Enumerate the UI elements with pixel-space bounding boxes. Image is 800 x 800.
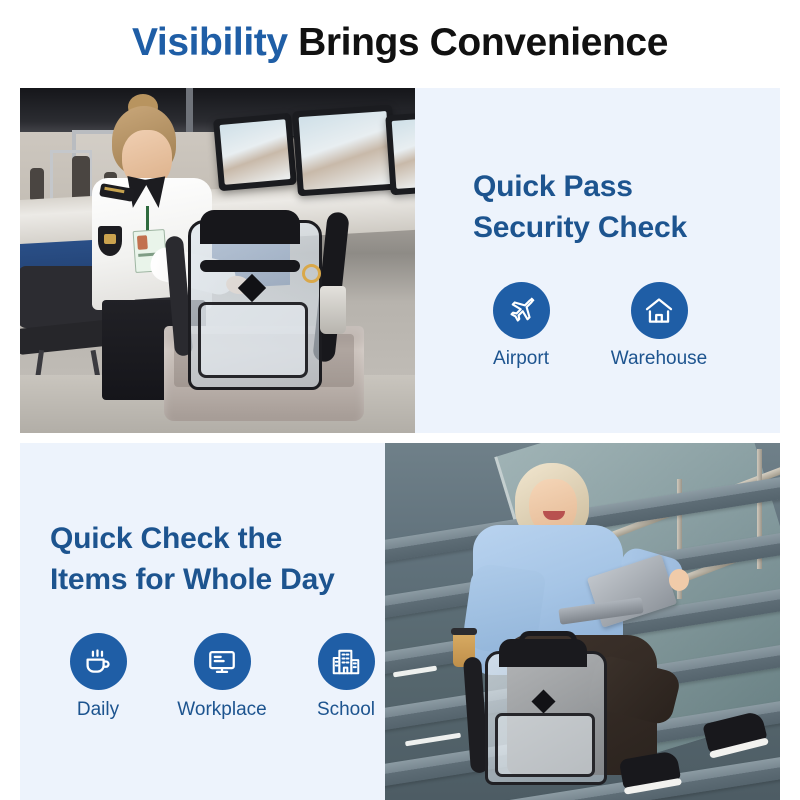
feature-label: School (317, 699, 375, 721)
screening-monitor (292, 105, 398, 197)
feature-airport[interactable]: Airport (473, 282, 569, 370)
screening-monitor (213, 113, 297, 192)
icon-row-quick-pass: Airport Warehouse (473, 282, 707, 370)
feature-school[interactable]: School (298, 633, 394, 721)
infographic-page: Visibility Brings Convenience (0, 0, 800, 800)
screening-monitor (385, 113, 415, 196)
panel-heading: Quick Pass Security Check (473, 166, 687, 248)
monitor-icon[interactable] (194, 633, 251, 690)
feature-label: Workplace (177, 699, 266, 721)
bottom-row: Quick Check the Items for Whole Day Dail… (20, 443, 780, 800)
feature-workplace[interactable]: Workplace (174, 633, 270, 721)
airplane-icon[interactable] (493, 282, 550, 339)
photo-airport-security (20, 88, 415, 433)
coffee-cup-icon[interactable] (70, 633, 127, 690)
title-plain-words: Brings Convenience (288, 21, 668, 64)
panel-heading: Quick Check the Items for Whole Day (50, 518, 335, 600)
house-icon[interactable] (631, 282, 688, 339)
feature-label: Daily (77, 699, 119, 721)
icon-row-quick-check: Daily Workplace (50, 633, 394, 721)
water-bottle (320, 286, 346, 334)
office-building-icon[interactable] (318, 633, 375, 690)
page-title: Visibility Brings Convenience (0, 20, 800, 66)
feature-warehouse[interactable]: Warehouse (611, 282, 707, 370)
top-row: Quick Pass Security Check Airport (20, 88, 780, 433)
feature-label: Warehouse (611, 348, 707, 370)
clear-backpack (485, 639, 601, 779)
title-accent-word: Visibility (132, 21, 288, 64)
clear-backpack (188, 206, 316, 384)
feature-daily[interactable]: Daily (50, 633, 146, 721)
feature-label: Airport (493, 348, 549, 370)
keyring (302, 264, 321, 283)
photo-steps-laptop (385, 443, 780, 800)
panel-quick-check: Quick Check the Items for Whole Day Dail… (20, 443, 385, 800)
panel-quick-pass: Quick Pass Security Check Airport (415, 88, 780, 433)
